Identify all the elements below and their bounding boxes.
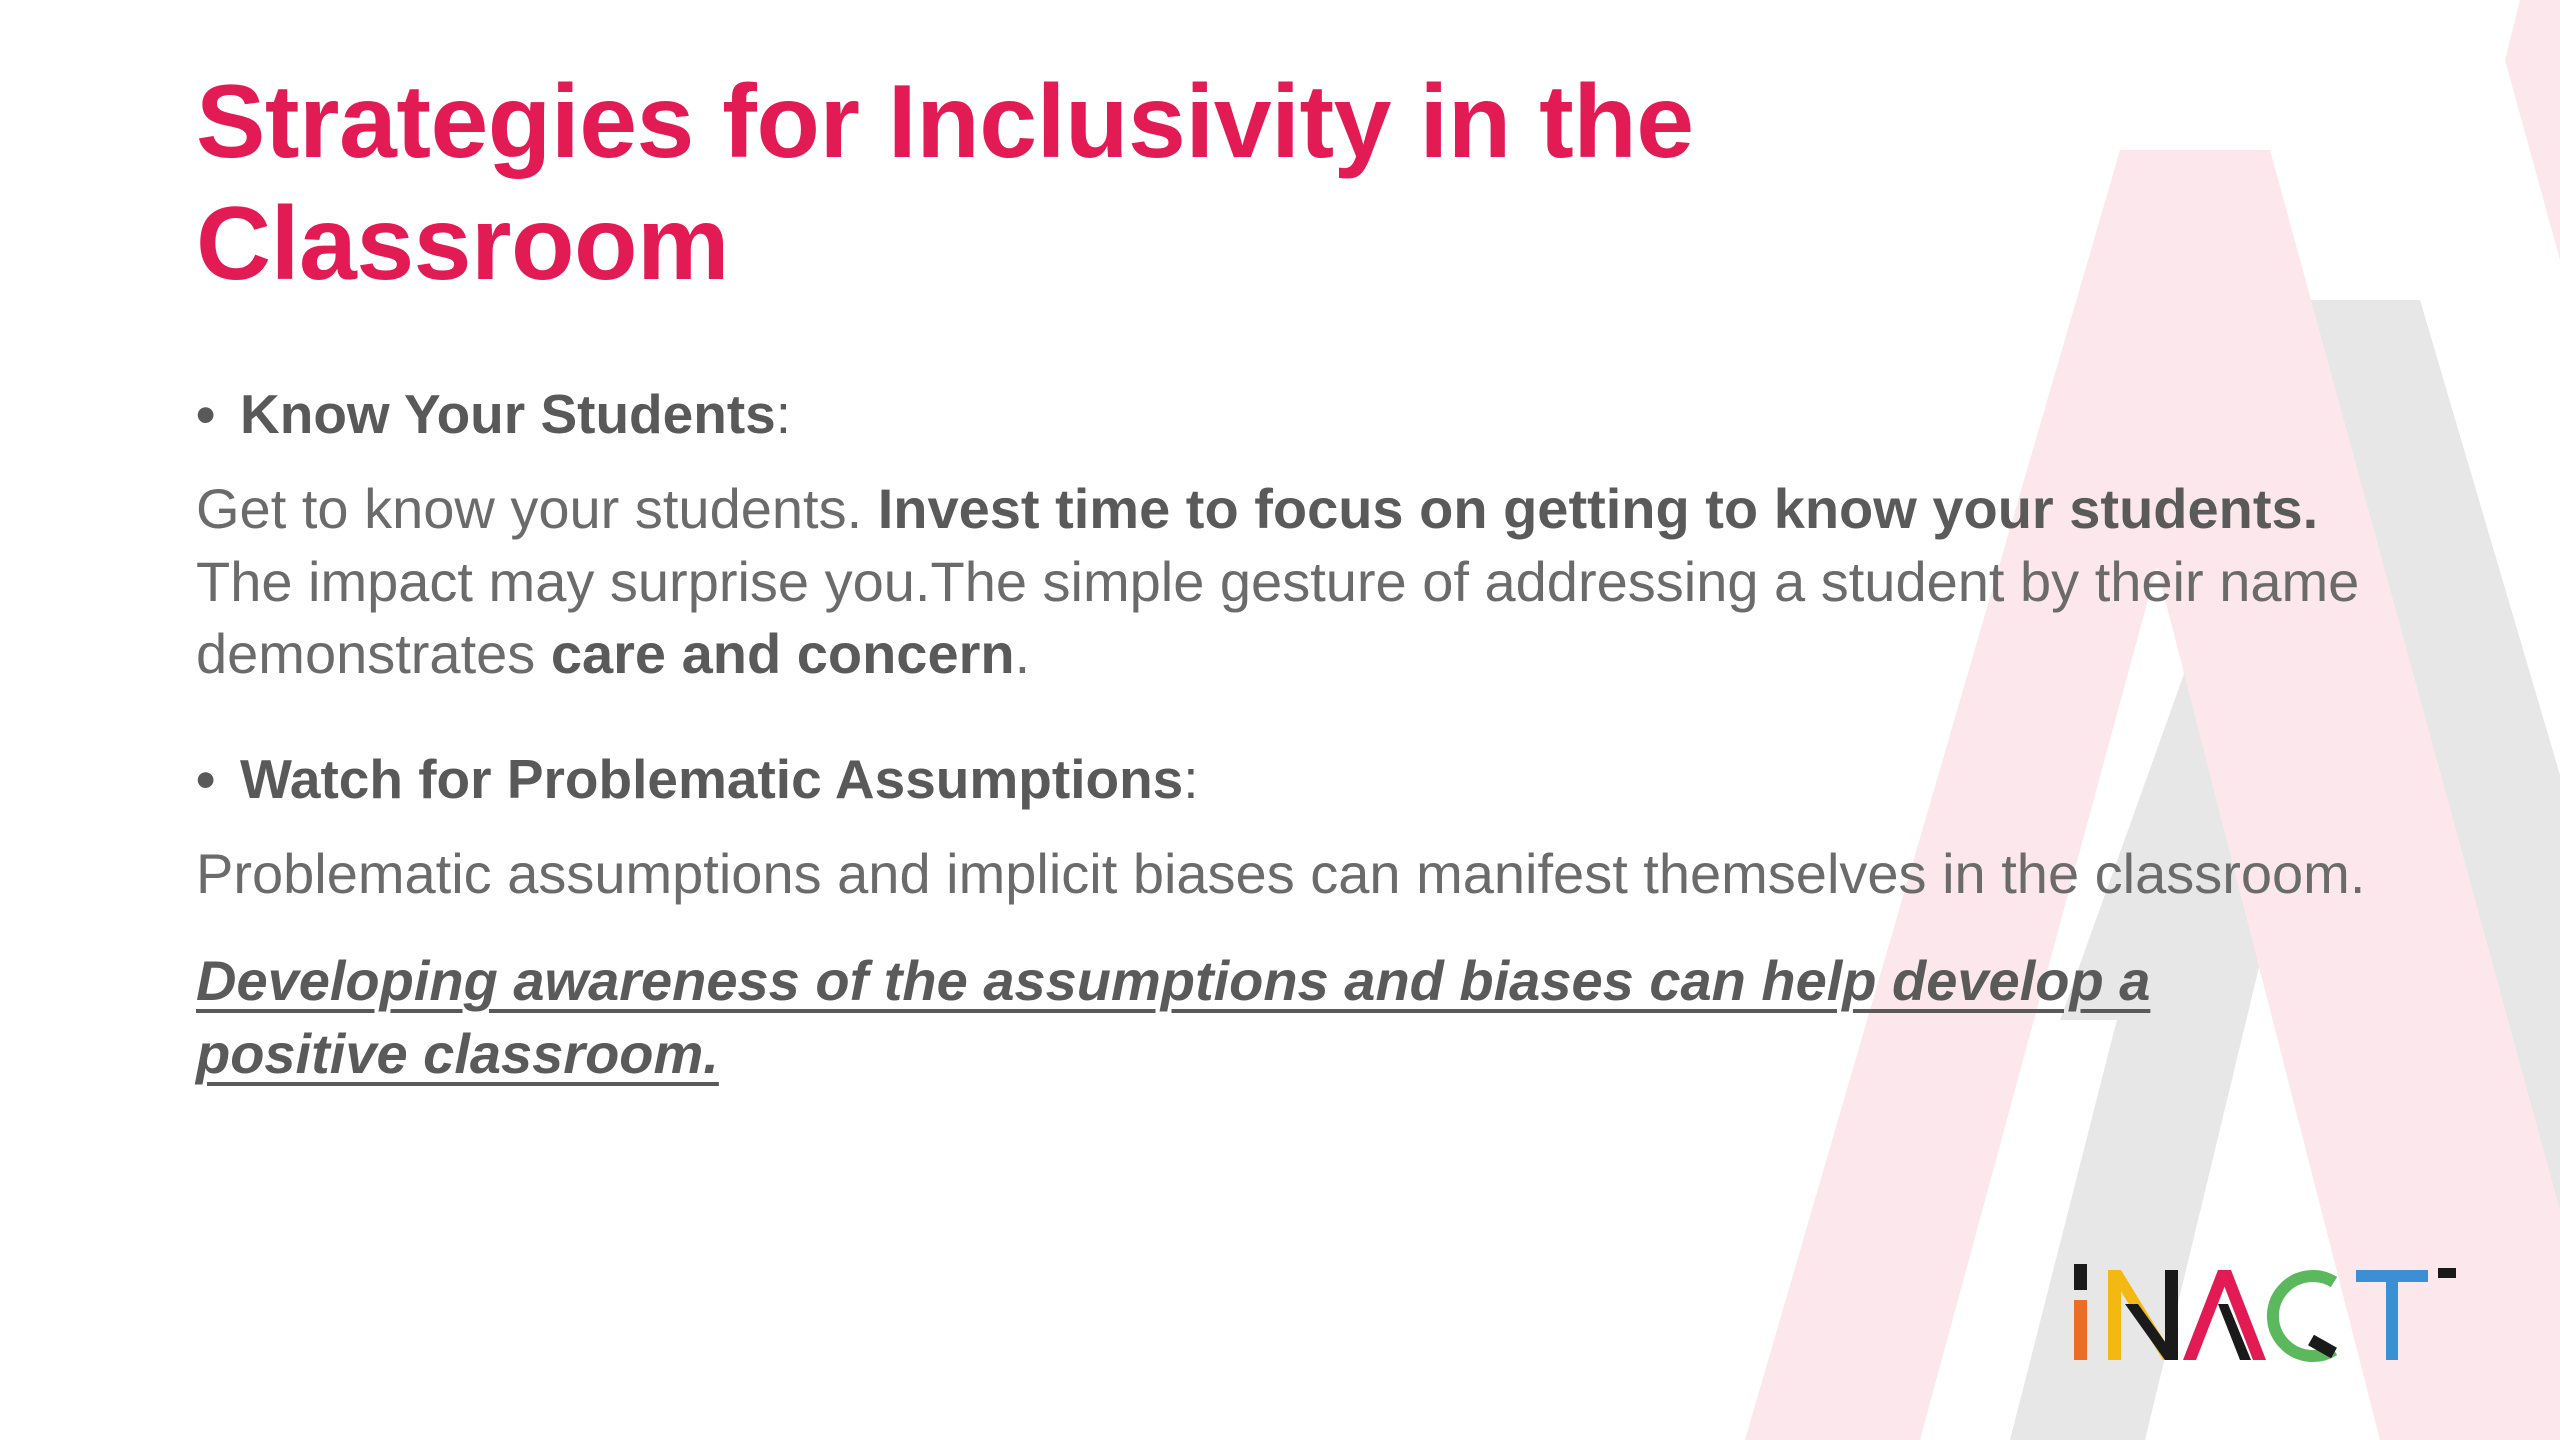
para1-segment-bold-1: Invest time to focus on getting to know … [878,477,2319,540]
page-title: Strategies for Inclusivity in the Classr… [196,62,1976,305]
emphasis-statement: Developing awareness of the assumptions … [196,945,2376,1091]
logo-trademark-mark [2438,1268,2456,1278]
bullet-heading-text: Know Your Students [240,383,776,445]
logo-i-stem [2074,1300,2087,1360]
bullet-heading-know-your-students: •Know Your Students: [196,382,2376,447]
para1-segment-period: . [1015,622,1031,685]
paragraph-problematic-assumptions: Problematic assumptions and implicit bia… [196,838,2376,911]
bullet-marker-icon: • [196,382,240,447]
bullet-heading-colon: : [776,383,791,445]
slide-canvas: Strategies for Inclusivity in the Classr… [0,0,2560,1440]
logo-t-stem [2386,1270,2398,1360]
bullet-heading-watch-for-problematic-assumptions: •Watch for Problematic Assumptions: [196,747,2376,812]
body-content: •Know Your Students: Get to know your st… [196,382,2376,1091]
para1-segment-plain-1: Get to know your students. [196,477,878,540]
bullet-heading-colon: : [1183,748,1198,810]
paragraph-know-your-students: Get to know your students. Invest time t… [196,473,2376,691]
para1-segment-plain-2: The impact may surprise you.The simple g… [196,550,2359,686]
inact-logo [2046,1252,2466,1372]
logo-n-right-stem [2165,1270,2178,1360]
bullet-marker-icon: • [196,747,240,812]
logo-i-dot [2074,1264,2087,1290]
emphasis-statement-text: Developing awareness of the assumptions … [196,949,2150,1085]
para1-segment-bold-2: care and concern [551,622,1015,685]
pink-edge-accent [2505,0,2560,260]
bullet-heading-text: Watch for Problematic Assumptions [240,748,1183,810]
